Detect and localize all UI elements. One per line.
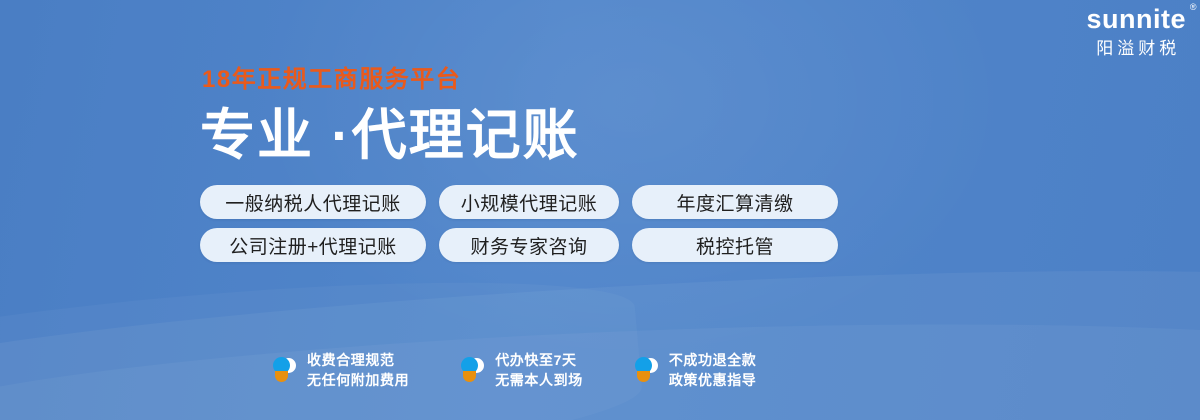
feature-text: 收费合理规范 无任何附加费用 [307, 350, 409, 391]
logo-chinese-name: 阳溢财税 [1086, 40, 1186, 57]
icon-orange-cup [463, 371, 476, 382]
hero-copy: 18年正规工商服务平台 专业 ·代理记账 一般纳税人代理记账 小规模代理记账 年… [200, 68, 838, 262]
service-pill[interactable]: 年度汇算清缴 [632, 185, 838, 219]
feature-text: 代办快至7天 无需本人到场 [495, 350, 583, 391]
hero-eyebrow: 18年正规工商服务平台 [202, 68, 838, 92]
service-pill[interactable]: 财务专家咨询 [439, 228, 619, 262]
icon-orange-cup [637, 371, 650, 382]
logo-wordmark-text: sunnite [1086, 4, 1186, 34]
service-pill[interactable]: 公司注册+代理记账 [200, 228, 426, 262]
feature-line-2: 政策优惠指导 [669, 370, 757, 390]
registered-trademark-icon: ® [1190, 3, 1197, 12]
feature-item: 代办快至7天 无需本人到场 [460, 350, 583, 391]
hero-headline: 专业 ·代理记账 [200, 108, 838, 163]
logo-wordmark: sunnite ® [1086, 6, 1186, 33]
service-pill[interactable]: 税控托管 [632, 228, 838, 262]
feature-line-2: 无需本人到场 [495, 370, 583, 390]
feature-line-1: 不成功退全款 [669, 350, 757, 370]
feature-item: 收费合理规范 无任何附加费用 [272, 350, 409, 391]
circle-cup-icon [272, 355, 298, 385]
brand-logo[interactable]: sunnite ® 阳溢财税 [1086, 6, 1186, 57]
service-pill-grid: 一般纳税人代理记账 小规模代理记账 年度汇算清缴 公司注册+代理记账 财务专家咨… [200, 185, 838, 262]
promo-banner: sunnite ® 阳溢财税 18年正规工商服务平台 专业 ·代理记账 一般纳税… [0, 0, 1200, 420]
icon-orange-cup [275, 371, 288, 382]
circle-cup-icon [634, 355, 660, 385]
feature-line-2: 无任何附加费用 [307, 370, 409, 390]
circle-cup-icon [460, 355, 486, 385]
feature-line-1: 代办快至7天 [495, 350, 583, 370]
feature-strip: 收费合理规范 无任何附加费用 代办快至7天 无需本人到场 不成功退全款 [272, 350, 756, 391]
service-pill-row: 一般纳税人代理记账 小规模代理记账 年度汇算清缴 [200, 185, 838, 219]
service-pill[interactable]: 一般纳税人代理记账 [200, 185, 426, 219]
service-pill-row: 公司注册+代理记账 财务专家咨询 税控托管 [200, 228, 838, 262]
service-pill[interactable]: 小规模代理记账 [439, 185, 619, 219]
feature-text: 不成功退全款 政策优惠指导 [669, 350, 757, 391]
feature-line-1: 收费合理规范 [307, 350, 409, 370]
feature-item: 不成功退全款 政策优惠指导 [634, 350, 757, 391]
